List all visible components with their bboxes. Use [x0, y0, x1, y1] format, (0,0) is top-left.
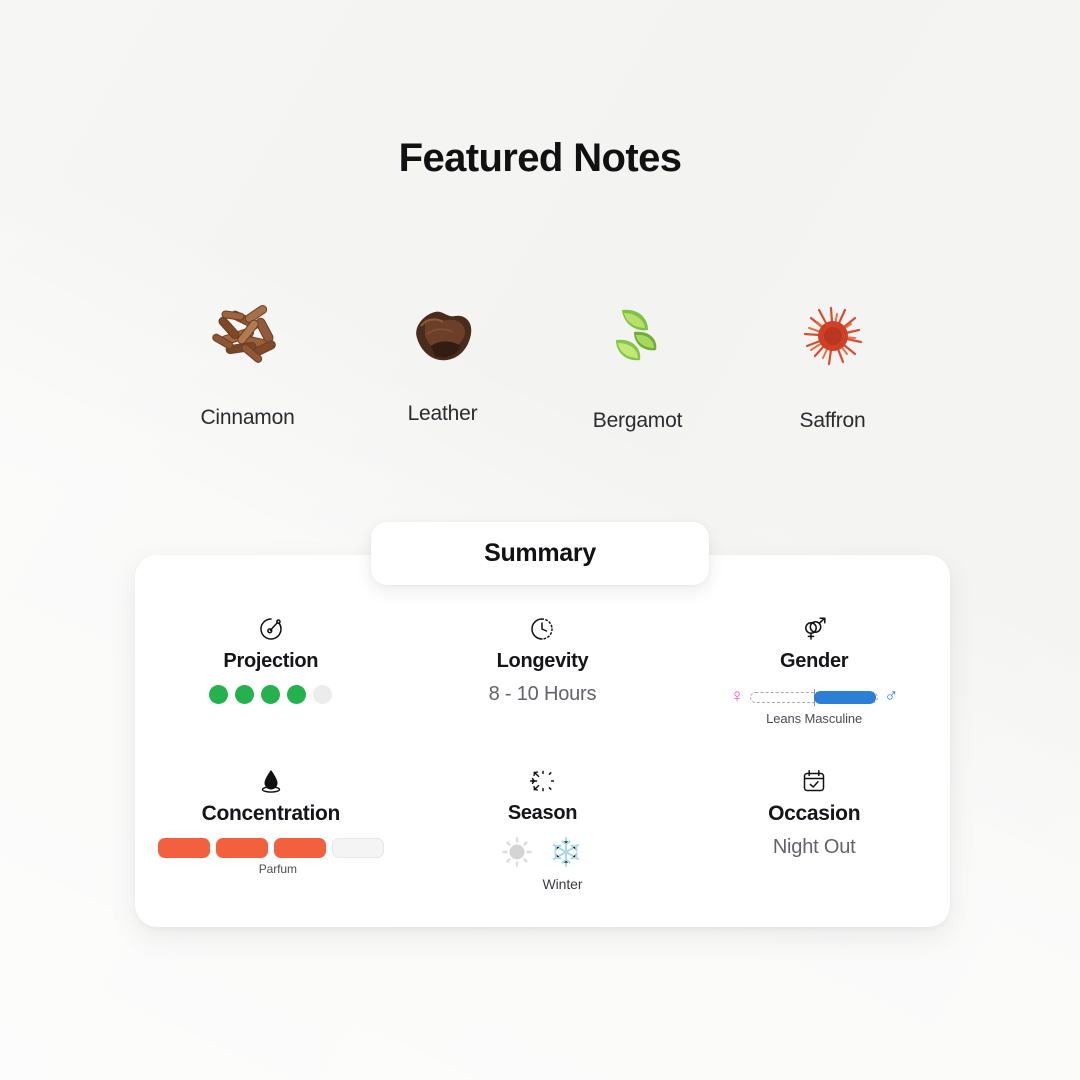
note-item-bergamot[interactable]: Bergamot: [550, 288, 725, 433]
summary-title: Summary: [484, 539, 596, 568]
note-label: Leather: [408, 402, 478, 426]
note-item-cinnamon[interactable]: Cinnamon: [160, 288, 335, 430]
metric-title: Concentration: [202, 802, 340, 826]
leather-piece-image: [395, 288, 491, 384]
metric-season[interactable]: Season: [407, 752, 679, 904]
note-item-saffron[interactable]: Saffron: [745, 288, 920, 433]
metric-gender[interactable]: Gender ♀ ♂ Leans Masculine: [678, 600, 950, 752]
metric-title: Occasion: [768, 802, 860, 826]
saffron-threads-image: [785, 288, 881, 384]
metric-title: Gender: [780, 650, 848, 673]
concentration-bars: [158, 838, 384, 858]
metric-occasion[interactable]: Occasion Night Out: [678, 752, 950, 904]
snowflake-icon[interactable]: [549, 835, 583, 874]
projection-dot: [313, 685, 332, 704]
projection-dot: [287, 685, 306, 704]
metric-concentration[interactable]: Concentration Parfum: [135, 752, 407, 904]
metric-title: Projection: [223, 650, 318, 673]
gender-track[interactable]: [750, 689, 878, 705]
note-item-leather[interactable]: Leather: [355, 288, 530, 426]
projection-dot: [235, 685, 254, 704]
note-label: Cinnamon: [200, 406, 294, 430]
concentration-segment: [216, 838, 268, 858]
concentration-caption: Parfum: [259, 862, 297, 876]
gender-slider[interactable]: ♀ ♂: [730, 687, 899, 706]
page-root: Featured Notes: [0, 0, 1080, 1080]
concentration-segment: [332, 838, 384, 858]
gender-symbols-icon: [800, 614, 828, 644]
sun-icon[interactable]: [501, 836, 533, 873]
concentration-segment: [274, 838, 326, 858]
gender-scale: ♀ ♂ Leans Masculine: [730, 683, 899, 726]
gauge-icon: [258, 614, 284, 644]
metric-title: Season: [508, 802, 577, 825]
summary-header-pill: Summary: [371, 522, 709, 585]
metric-longevity[interactable]: Longevity 8 - 10 Hours: [407, 600, 679, 752]
metric-projection[interactable]: Projection: [135, 600, 407, 752]
season-caption: Winter: [543, 876, 583, 892]
projection-dot: [261, 685, 280, 704]
season-indicator: Winter: [501, 835, 583, 892]
male-symbol-icon: ♂: [884, 687, 898, 706]
note-label: Saffron: [800, 409, 866, 433]
sun-snowflake-icon: [529, 766, 555, 796]
clock-icon: [529, 614, 555, 644]
calendar-check-icon: [801, 766, 827, 796]
lime-wedges-image: [590, 288, 686, 384]
female-symbol-icon: ♀: [730, 687, 744, 706]
gender-fill-bar: [814, 691, 875, 704]
featured-notes-row: Cinnamon Leather: [160, 288, 920, 433]
summary-metrics-grid: Projection Longevity 8 - 10 Hours: [135, 600, 950, 904]
projection-rating-dots: [209, 685, 332, 704]
gender-caption: Leans Masculine: [766, 711, 862, 726]
note-label: Bergamot: [593, 409, 682, 433]
projection-dot: [209, 685, 228, 704]
longevity-value: 8 - 10 Hours: [489, 683, 597, 706]
concentration-scale: Parfum: [158, 836, 384, 876]
season-icon-row: [501, 835, 583, 874]
droplet-icon: [259, 766, 283, 796]
cinnamon-sticks-image: [200, 288, 296, 384]
metric-title: Longevity: [497, 650, 589, 673]
occasion-value: Night Out: [773, 836, 856, 859]
page-title: Featured Notes: [0, 136, 1080, 181]
concentration-segment: [158, 838, 210, 858]
